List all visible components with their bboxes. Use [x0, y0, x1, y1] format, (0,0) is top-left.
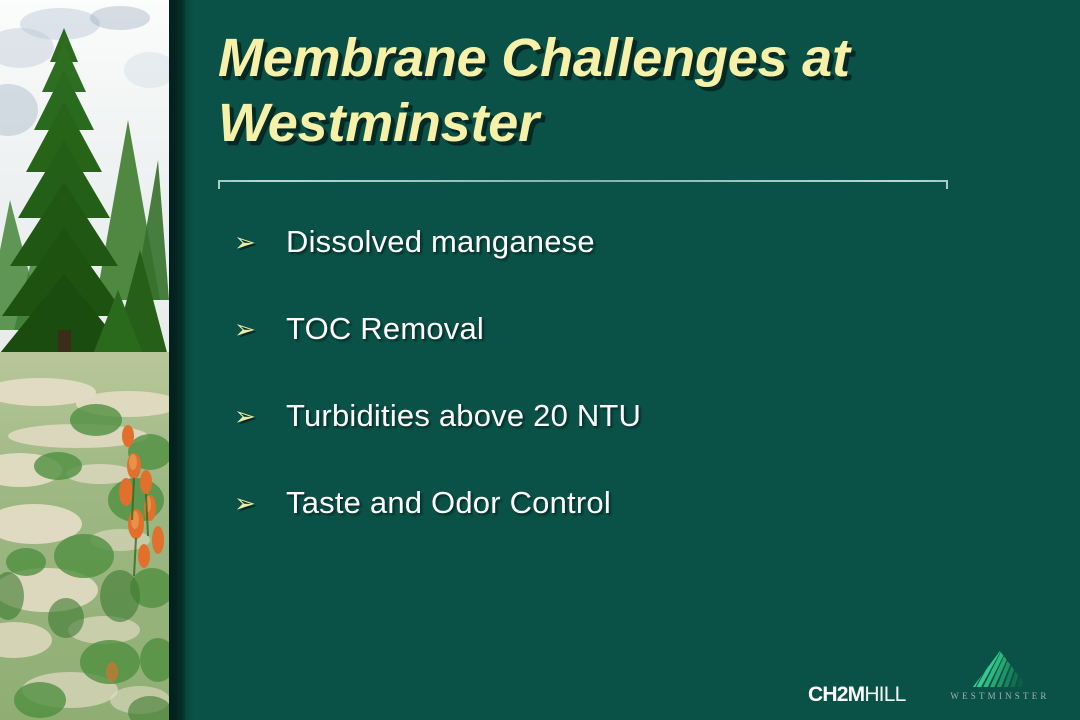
- divider-tick-right: [946, 180, 948, 189]
- bullet-text: TOC Removal: [286, 309, 992, 349]
- arrowhead-bullet-icon: ➢: [232, 396, 286, 436]
- arrowhead-bullet-icon: ➢: [232, 309, 286, 349]
- bullet-list: ➢ Dissolved manganese ➢ TOC Removal ➢ Tu…: [232, 222, 992, 570]
- ch2mhill-logo-bold-text: CH2M: [808, 683, 864, 706]
- list-item: ➢ Dissolved manganese: [232, 222, 992, 309]
- bullet-text: Taste and Odor Control: [286, 483, 992, 523]
- photo-illustration: [0, 0, 169, 720]
- list-item: ➢ TOC Removal: [232, 309, 992, 396]
- bullet-text: Turbidities above 20 NTU: [286, 396, 992, 436]
- slide-edge-glow: [185, 0, 195, 720]
- westminster-wordmark: WESTMINSTER: [938, 691, 1062, 701]
- decorative-photo-strip: [0, 0, 169, 720]
- divider-tick-left: [218, 180, 220, 189]
- arrowhead-bullet-icon: ➢: [232, 483, 286, 523]
- title-divider-rule: [218, 180, 948, 189]
- bullet-text: Dissolved manganese: [286, 222, 992, 262]
- list-item: ➢ Turbidities above 20 NTU: [232, 396, 992, 483]
- westminster-mountain-icon: [972, 650, 1028, 688]
- arrowhead-bullet-icon: ➢: [232, 222, 286, 262]
- westminster-logo: WESTMINSTER: [938, 650, 1062, 701]
- ch2mhill-logo-light-text: HILL: [864, 683, 905, 706]
- presentation-slide: Membrane Challenges at Westminster ➢ Dis…: [0, 0, 1080, 720]
- slide-title: Membrane Challenges at Westminster: [218, 26, 978, 157]
- list-item: ➢ Taste and Odor Control: [232, 483, 992, 570]
- ch2mhill-logo: CH2MHILL: [808, 684, 905, 705]
- divider-line: [218, 180, 948, 182]
